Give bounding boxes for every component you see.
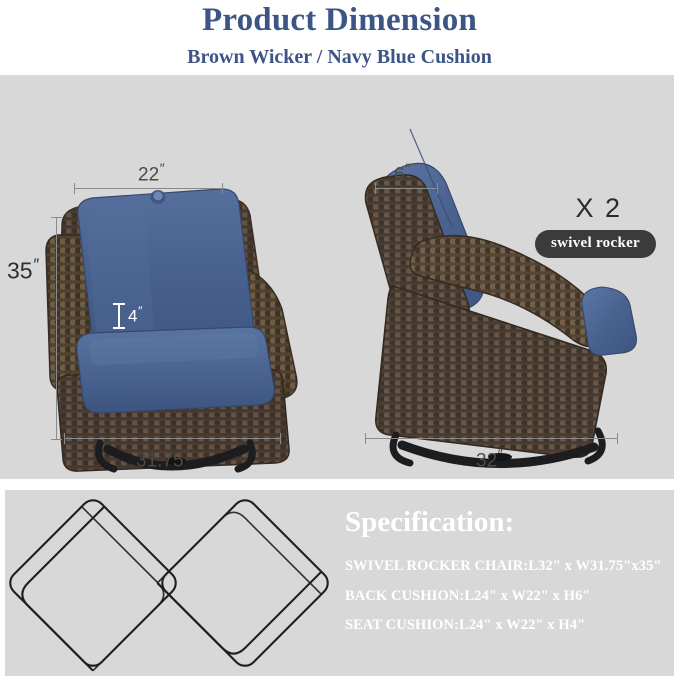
dimension-tick-depth-left [365,433,366,444]
dimension-line-width-bottom [64,438,280,439]
dimension-tick-left [74,183,75,194]
dimension-tick-top [51,217,62,218]
page-subtitle: Brown Wicker / Navy Blue Cushion [0,37,679,67]
spec-line-seat-cushion: SEAT CUSHION:L24" x W22" x H4" [345,618,670,633]
dimension-tick-bottom [51,439,62,440]
cushion-outline-diagrams [5,490,335,676]
seat-thickness-tick-top [113,303,125,305]
dimension-label-seat-thickness: 4″ [128,304,142,327]
chair-side-view-illustration [340,75,674,479]
header: Product Dimension Brown Wicker / Navy Bl… [0,0,679,75]
specification-title: Specification: [345,508,670,537]
dimension-label-width-bottom: 31.75″ [136,447,188,472]
dimension-tick-back-left [375,183,376,194]
dimension-line-height [56,217,57,439]
dimension-label-back-thickness: 6″ [394,161,409,186]
dimension-line-width-top [74,188,222,189]
dimension-label-height: 35″ [7,255,38,285]
dimension-tick-depth-right [617,433,618,444]
dimension-tick-bottom-right [280,433,281,444]
dimension-line-back-thickness [375,188,437,189]
dimension-tick-back-right [437,183,438,194]
specification-block: Specification: SWIVEL ROCKER CHAIR:L32" … [345,508,670,648]
spec-line-back-cushion: BACK CUSHION:L24" x W22" x H6" [345,589,670,604]
spec-line-chair: SWIVEL ROCKER CHAIR:L32" x W31.75"x35" [345,559,670,574]
swivel-rocker-badge: swivel rocker [535,230,656,258]
dimension-label-depth: 32″ [476,447,502,472]
dimension-label-width-top: 22″ [138,161,164,186]
dimension-line-depth [365,438,617,439]
seat-thickness-tick-bottom [113,327,125,329]
chair-views-panel: 22″ 35″ 4″ 31.75″ [0,75,674,479]
specification-panel: Specification: SWIVEL ROCKER CHAIR:L32" … [5,490,674,676]
chair-front-view-illustration [0,75,340,479]
dimension-tick-bottom-left [64,433,65,444]
quantity-label: X 2 [575,193,622,224]
cushion-outline-right [157,495,332,670]
seat-thickness-line [118,303,120,329]
cushion-outline-left [5,495,180,670]
dimension-tick-right [222,183,223,194]
page-title: Product Dimension [0,0,679,37]
